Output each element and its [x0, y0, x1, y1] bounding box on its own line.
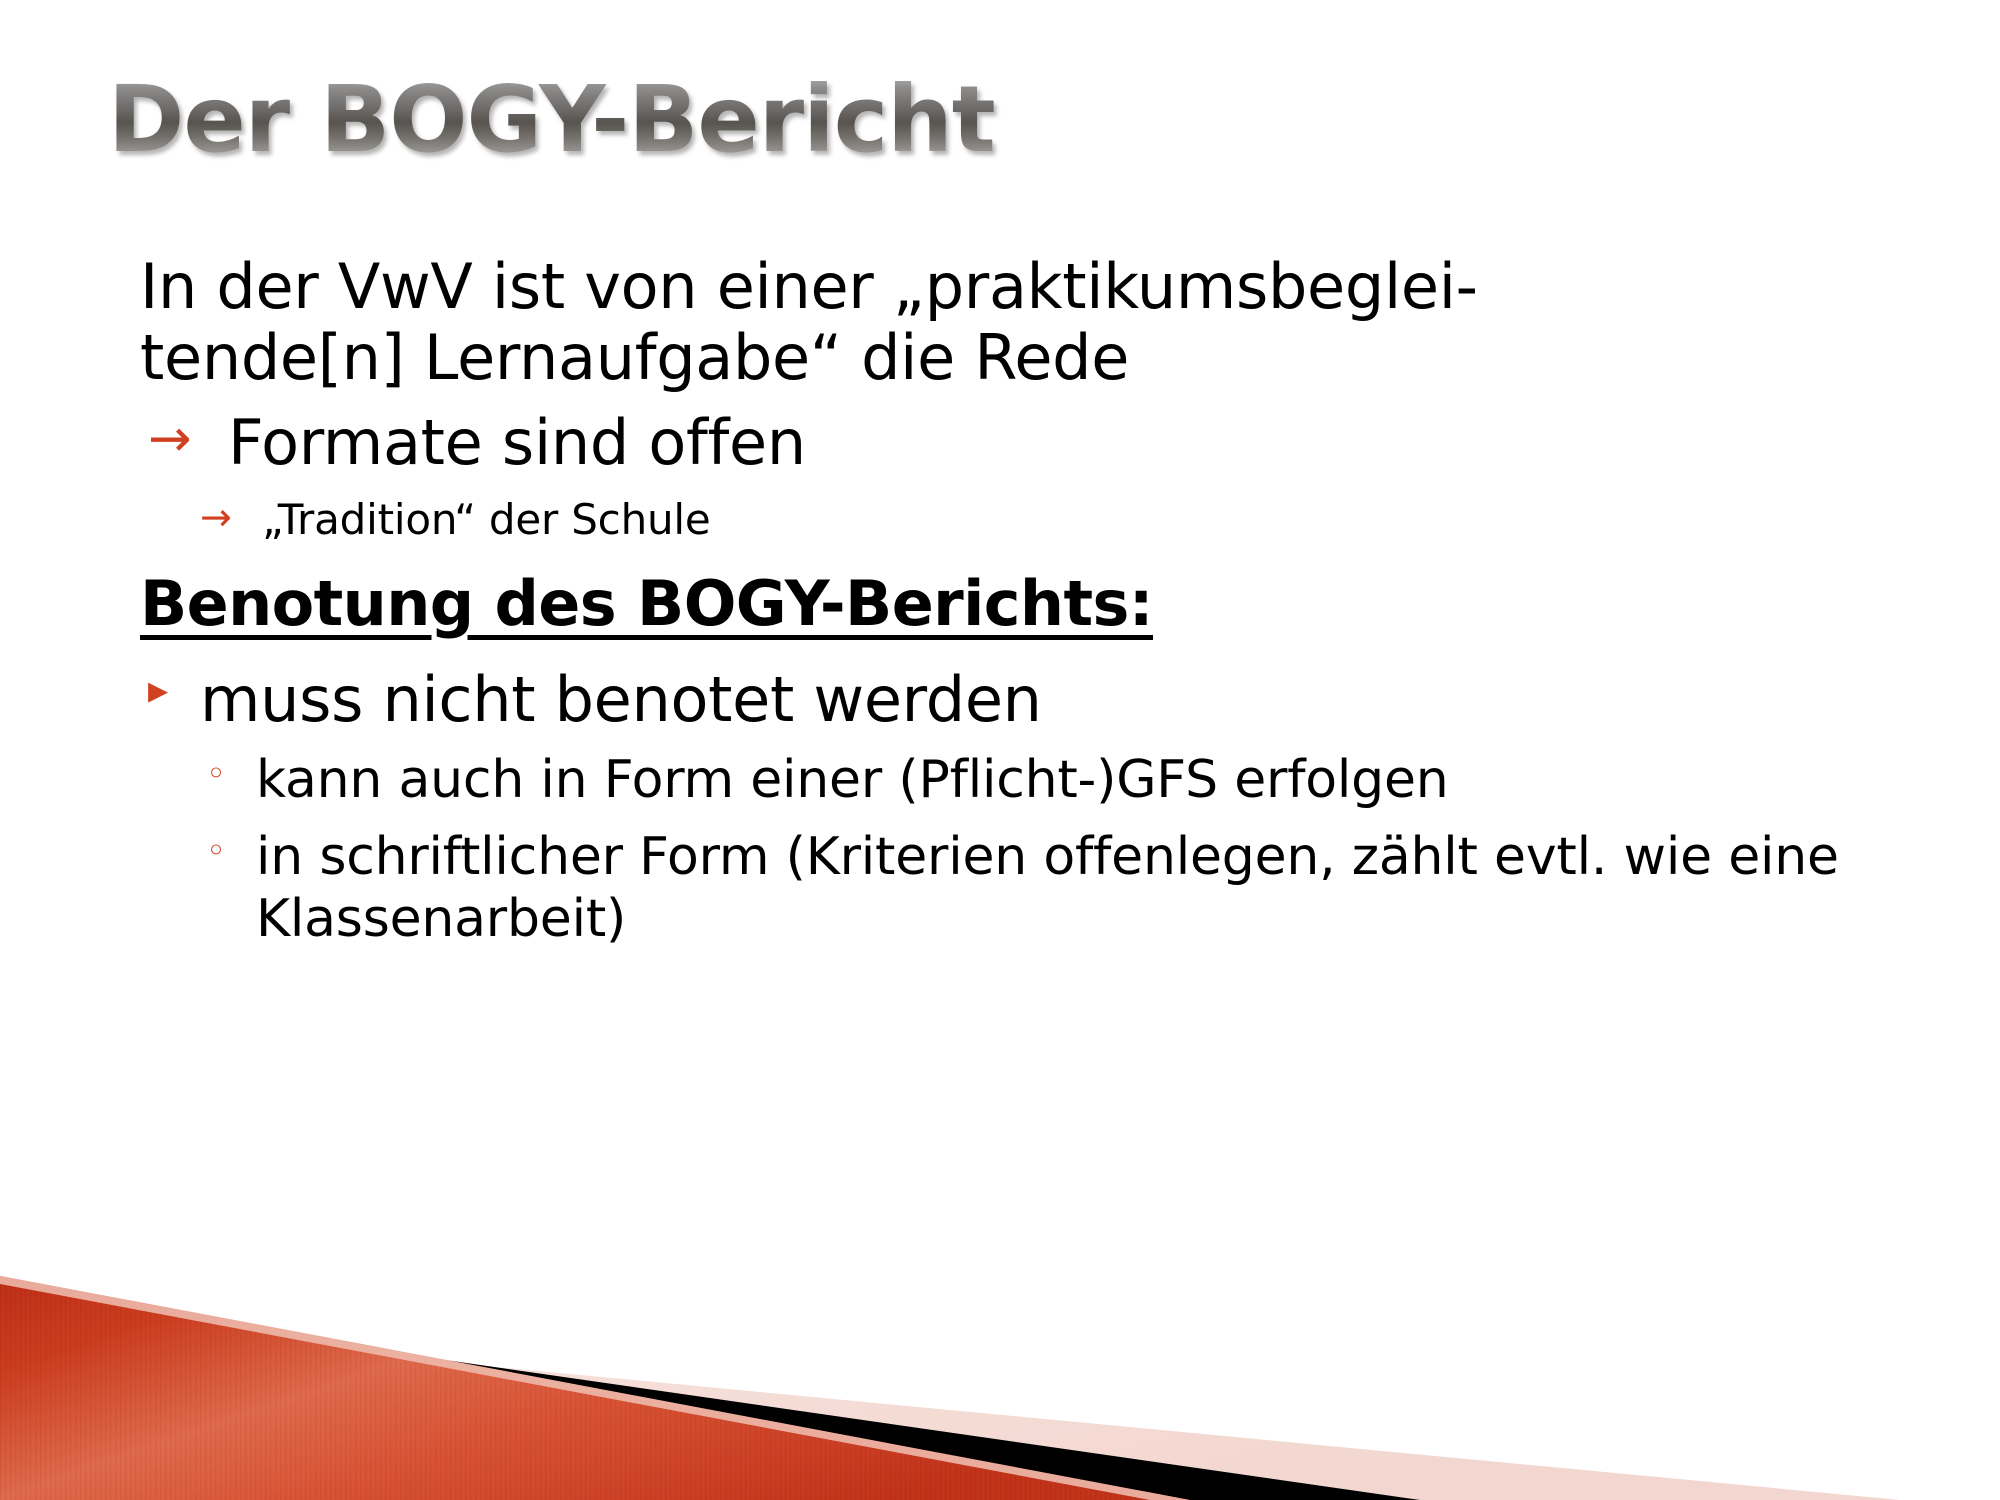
triangle-bullet-icon: ▸ [148, 670, 168, 710]
list-item-label: kann auch in Form einer (Pflicht-)GFS er… [256, 750, 1449, 810]
deco-pink-band [0, 1320, 1900, 1500]
deco-black-stripe [0, 1296, 1420, 1500]
deco-red-edge-highlight [0, 1276, 1190, 1500]
list-item-label: in schriftlicher Form (Kriterien offenle… [256, 827, 1839, 949]
section-heading: Benotung des BOGY-Berichts: [0, 568, 2000, 640]
deco-red-texture [0, 1276, 1190, 1500]
intro-line-1: In der VwV ist von einer „praktikumsbegl… [140, 250, 1478, 323]
list-item-label: muss nicht benotet werden [200, 663, 1042, 736]
circle-bullet-icon: ◦ [206, 830, 226, 873]
list-item-formate: → Formate sind offen [0, 407, 2000, 479]
intro-paragraph: In der VwV ist von einer „praktikumsbegl… [0, 252, 2000, 393]
list-item-label: „Tradition“ der Schule [262, 495, 711, 544]
slide: Der BOGY-Bericht In der VwV ist von eine… [0, 0, 2000, 1500]
section-heading-label: Benotung des BOGY-Berichts: [140, 567, 1153, 640]
corner-decoration [0, 1200, 2000, 1500]
arrow-right-small-icon: → [200, 495, 232, 541]
intro-line-2: tende[n] Lernaufgabe“ die Rede [140, 321, 1129, 394]
slide-body: In der VwV ist von einer „praktikumsbegl… [0, 252, 2000, 955]
list-item-label: Formate sind offen [228, 406, 806, 479]
deco-red-triangle [0, 1276, 1190, 1500]
title-container: Der BOGY-Bericht [108, 72, 1808, 212]
arrow-right-icon: → [148, 409, 191, 469]
list-item-tradition: → „Tradition“ der Schule [0, 495, 2000, 545]
page-title: Der BOGY-Bericht [108, 72, 1808, 169]
list-item-gfs: ◦ kann auch in Form einer (Pflicht-)GFS … [0, 749, 2000, 811]
list-item-schriftlich: ◦ in schriftlicher Form (Kriterien offen… [0, 826, 2000, 951]
circle-bullet-icon: ◦ [206, 753, 226, 796]
list-item-benotet: ▸ muss nicht benotet werden [0, 664, 2000, 736]
